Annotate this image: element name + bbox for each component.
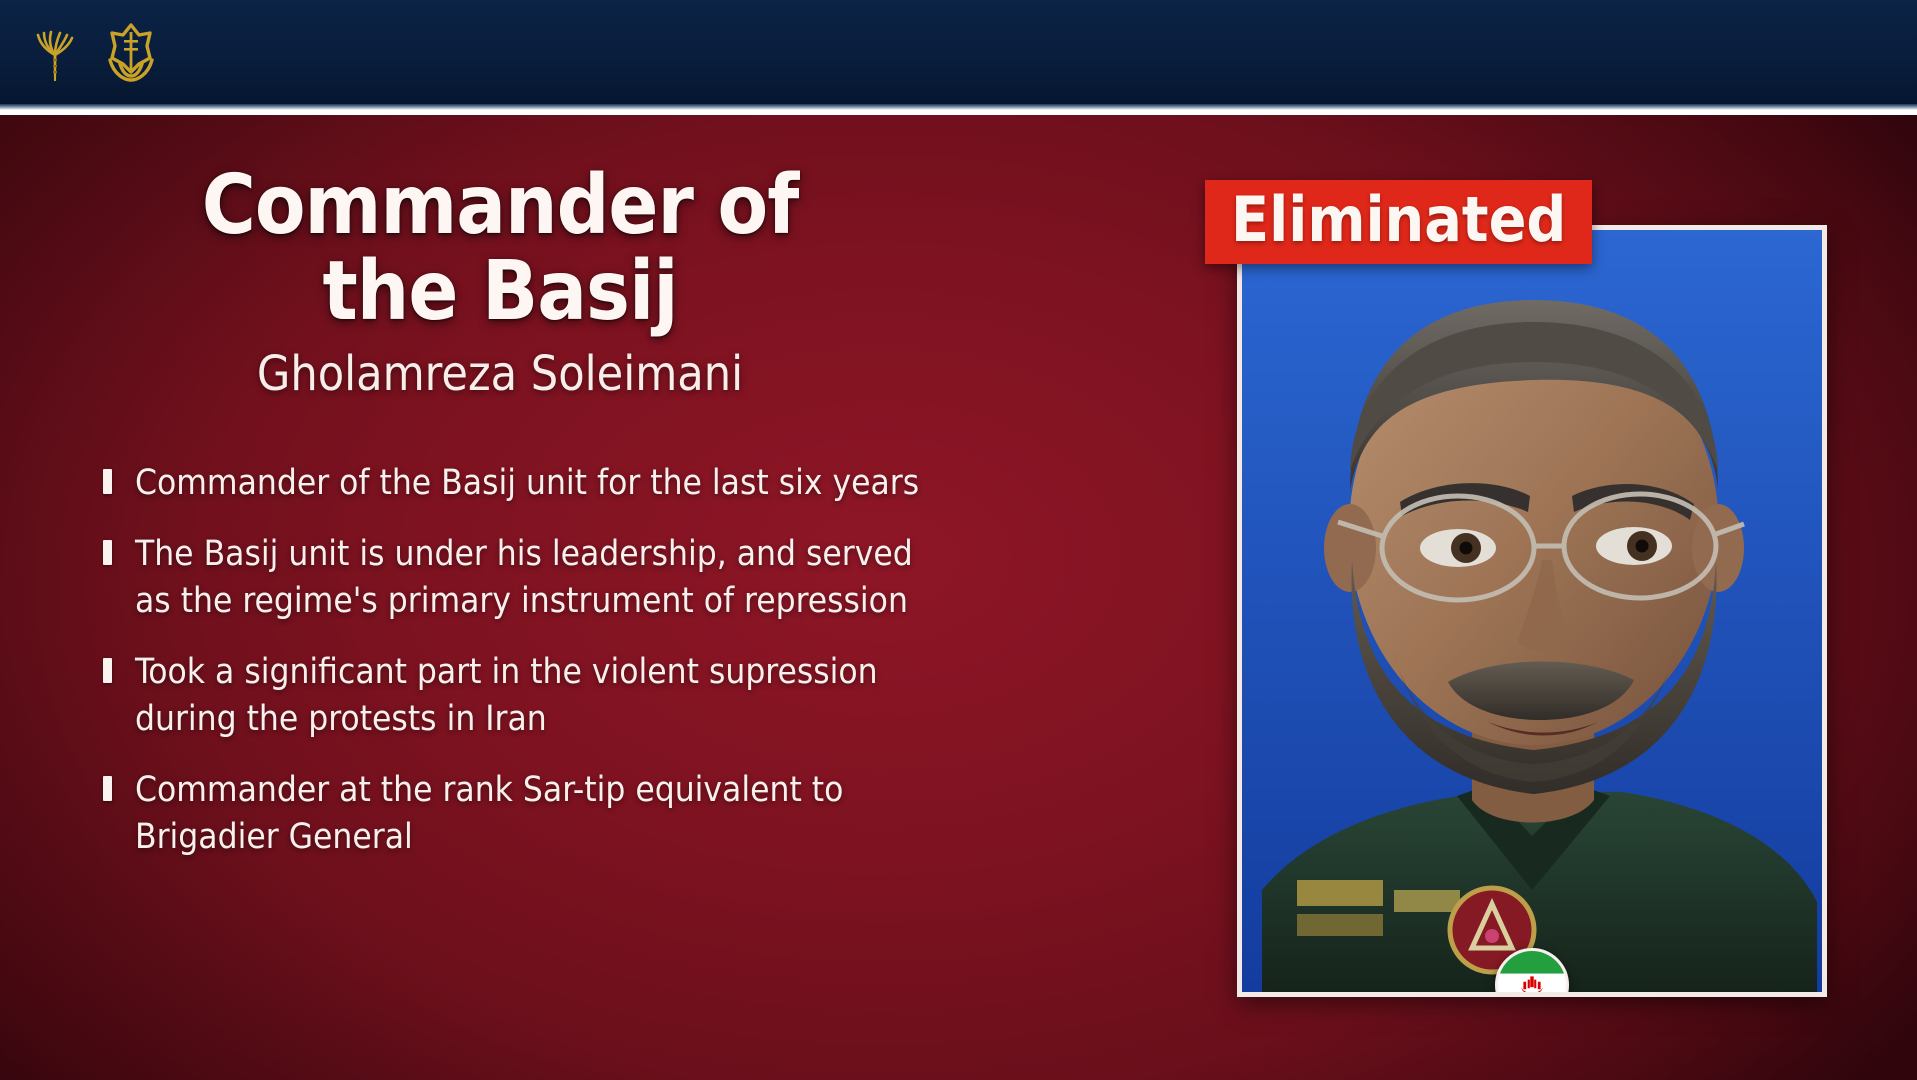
portrait-frame (1237, 225, 1827, 997)
bullet-marker-icon (103, 776, 112, 801)
list-item: Commander at the rank Sar-tip equivalent… (103, 767, 963, 861)
page-title: Commander of the Basij (0, 163, 1000, 335)
list-item: Took a significant part in the violent s… (103, 649, 963, 743)
status-badge: Eliminated (1205, 180, 1592, 264)
bullet-list: Commander of the Basij unit for the last… (103, 460, 963, 885)
list-item: Commander of the Basij unit for the last… (103, 460, 963, 507)
portrait-block: Eliminated (1237, 225, 1827, 997)
idf-emblem-icon (98, 20, 164, 84)
status-badge-label: Eliminated (1231, 189, 1566, 251)
portrait-photo (1242, 230, 1822, 992)
bullet-marker-icon (103, 469, 112, 494)
list-item-label: Commander at the rank Sar-tip equivalent… (135, 767, 843, 861)
header-divider (0, 104, 1917, 115)
subject-name: Gholamreza Soleimani (0, 347, 1000, 401)
broadcast-antenna-icon (26, 21, 84, 83)
list-item-label: Commander of the Basij unit for the last… (135, 460, 919, 507)
header-logo-group (26, 20, 164, 84)
infographic-card: Commander of the Basij Gholamreza Soleim… (0, 0, 1917, 1080)
text-column: Commander of the Basij Gholamreza Soleim… (0, 115, 1020, 1080)
list-item-label: Took a significant part in the violent s… (135, 649, 878, 743)
list-item-label: The Basij unit is under his leadership, … (135, 531, 913, 625)
bullet-marker-icon (103, 540, 112, 565)
list-item: The Basij unit is under his leadership, … (103, 531, 963, 625)
header-bar (0, 0, 1917, 104)
bullet-marker-icon (103, 658, 112, 683)
